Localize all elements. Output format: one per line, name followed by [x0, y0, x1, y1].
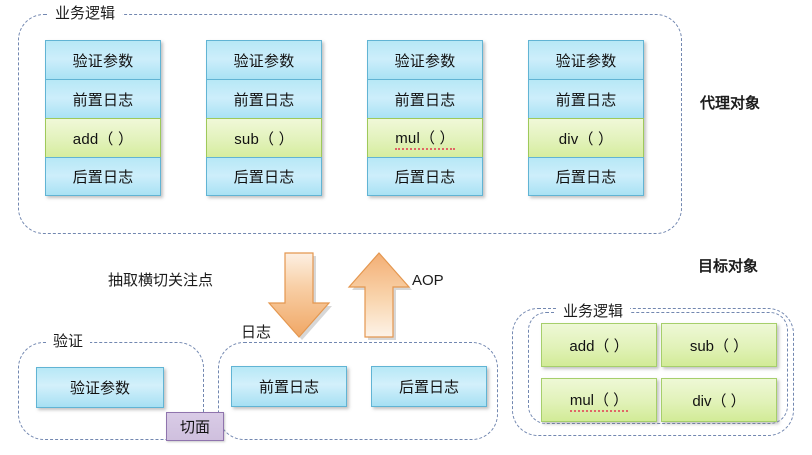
- proxy-object-group-label: 业务逻辑: [48, 5, 122, 22]
- proxy-method-stack: 验证参数 前置日志 sub（ ） 后置日志: [206, 40, 322, 196]
- cell-validate-params: 验证参数: [528, 40, 644, 79]
- cell-method-sub: sub（ ）: [206, 118, 322, 157]
- cell-after-log: 后置日志: [206, 157, 322, 196]
- box-method-add: add（ ）: [541, 323, 657, 367]
- aop-label: AOP: [412, 272, 444, 290]
- cell-before-log: 前置日志: [45, 79, 161, 118]
- arrow-up-icon: [345, 252, 413, 342]
- cell-after-log: 后置日志: [45, 157, 161, 196]
- cell-before-log: 前置日志: [206, 79, 322, 118]
- box-method-mul-text: mul（ ）: [570, 389, 628, 412]
- box-method-mul: mul（ ）: [541, 378, 657, 422]
- proxy-method-stack: 验证参数 前置日志 div（ ） 后置日志: [528, 40, 644, 196]
- cell-method-mul: mul（ ）: [367, 118, 483, 157]
- cell-before-log: 前置日志: [367, 79, 483, 118]
- cell-validate-params: 验证参数: [367, 40, 483, 79]
- proxy-method-stack: 验证参数 前置日志 mul（ ） 后置日志: [367, 40, 483, 196]
- cell-after-log: 后置日志: [528, 157, 644, 196]
- cell-before-log: 前置日志: [528, 79, 644, 118]
- cell-validate-params: 验证参数: [206, 40, 322, 79]
- cell-method-add: add（ ）: [45, 118, 161, 157]
- cell-validate-params: 验证参数: [45, 40, 161, 79]
- validate-aspect-group-label: 验证: [46, 333, 90, 350]
- cell-method-div: div（ ）: [528, 118, 644, 157]
- extract-crosscutting-label: 抽取横切关注点: [108, 272, 213, 290]
- diagram-canvas: 业务逻辑 代理对象 验证参数 前置日志 add（ ） 后置日志 验证参数 前置日…: [0, 0, 812, 455]
- log-aspect-group-label: 日志: [234, 324, 278, 341]
- proxy-object-side-label: 代理对象: [700, 95, 760, 113]
- box-method-div: div（ ）: [661, 378, 777, 422]
- cell-method-mul-text: mul（ ）: [395, 127, 455, 150]
- target-object-label: 目标对象: [698, 258, 758, 276]
- proxy-method-stack: 验证参数 前置日志 add（ ） 后置日志: [45, 40, 161, 196]
- box-after-log: 后置日志: [371, 366, 487, 407]
- aspect-badge: 切面: [166, 412, 224, 441]
- box-method-sub: sub（ ）: [661, 323, 777, 367]
- target-business-logic-group-label: 业务逻辑: [556, 303, 630, 320]
- box-validate-params: 验证参数: [36, 367, 164, 408]
- cell-after-log: 后置日志: [367, 157, 483, 196]
- box-before-log: 前置日志: [231, 366, 347, 407]
